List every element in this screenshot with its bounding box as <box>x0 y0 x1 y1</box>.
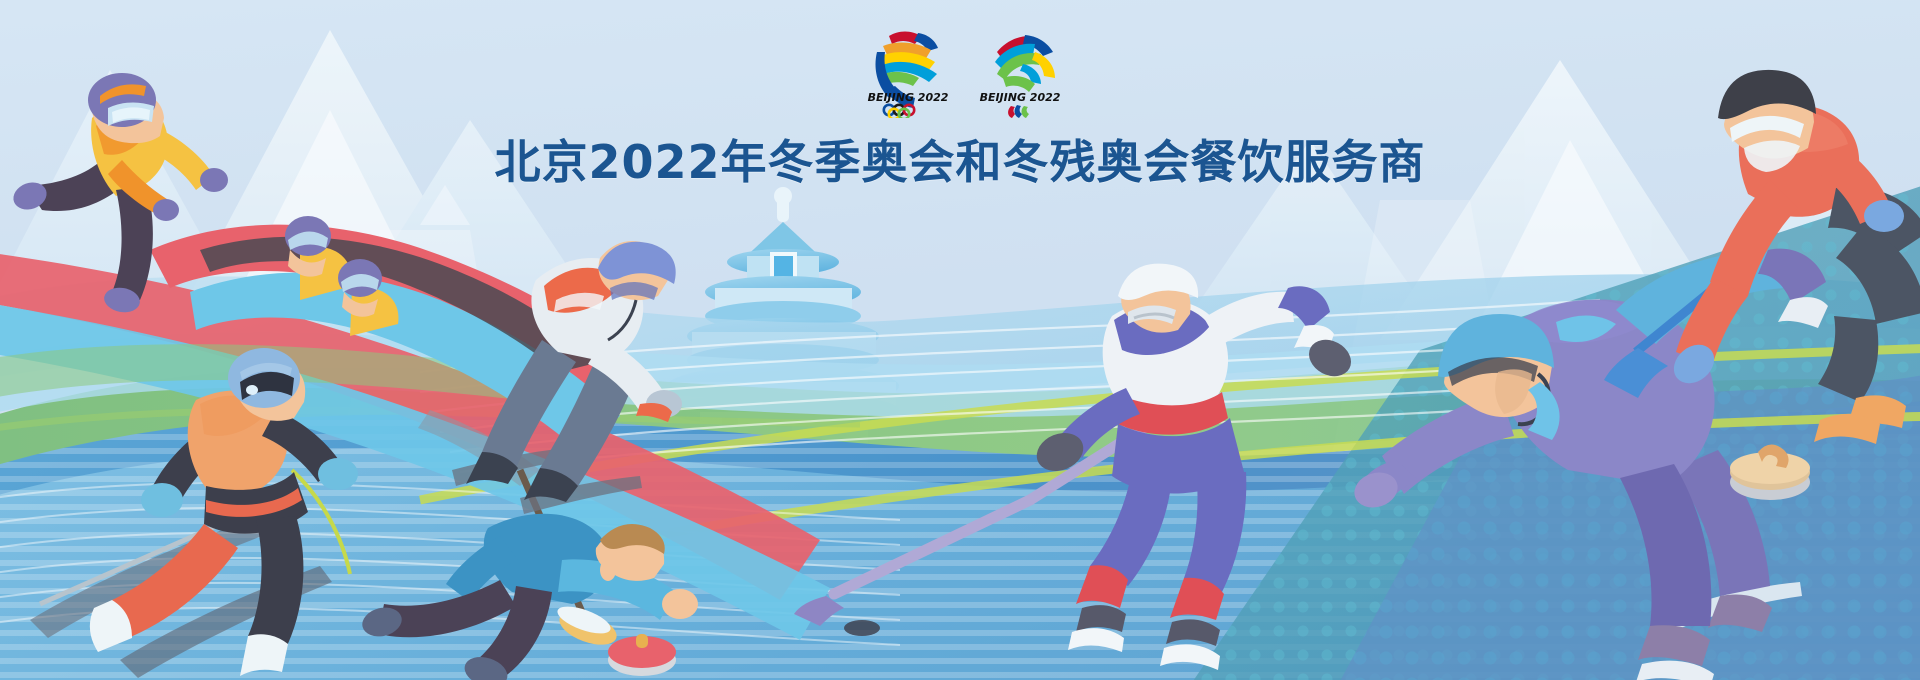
alpine-skier <box>30 348 358 678</box>
winter-olympics-banner: BEIJING 2022 <box>0 0 1920 680</box>
page-title: 北京2022年冬季奥会和冬残奥会餐饮服务商 <box>0 126 1920 192</box>
emblem-wordmark: BEIJING 2022 <box>868 91 949 104</box>
emblems-group: BEIJING 2022 <box>865 22 1065 118</box>
beijing-2022-olympic-emblem: BEIJING 2022 <box>865 22 951 118</box>
emblem-wordmark: BEIJING 2022 <box>980 91 1061 104</box>
ice-hockey-player <box>794 264 1357 670</box>
beijing-2022-paralympic-emblem: BEIJING 2022 <box>977 22 1063 118</box>
paralympic-agitos-icon <box>1008 105 1029 118</box>
